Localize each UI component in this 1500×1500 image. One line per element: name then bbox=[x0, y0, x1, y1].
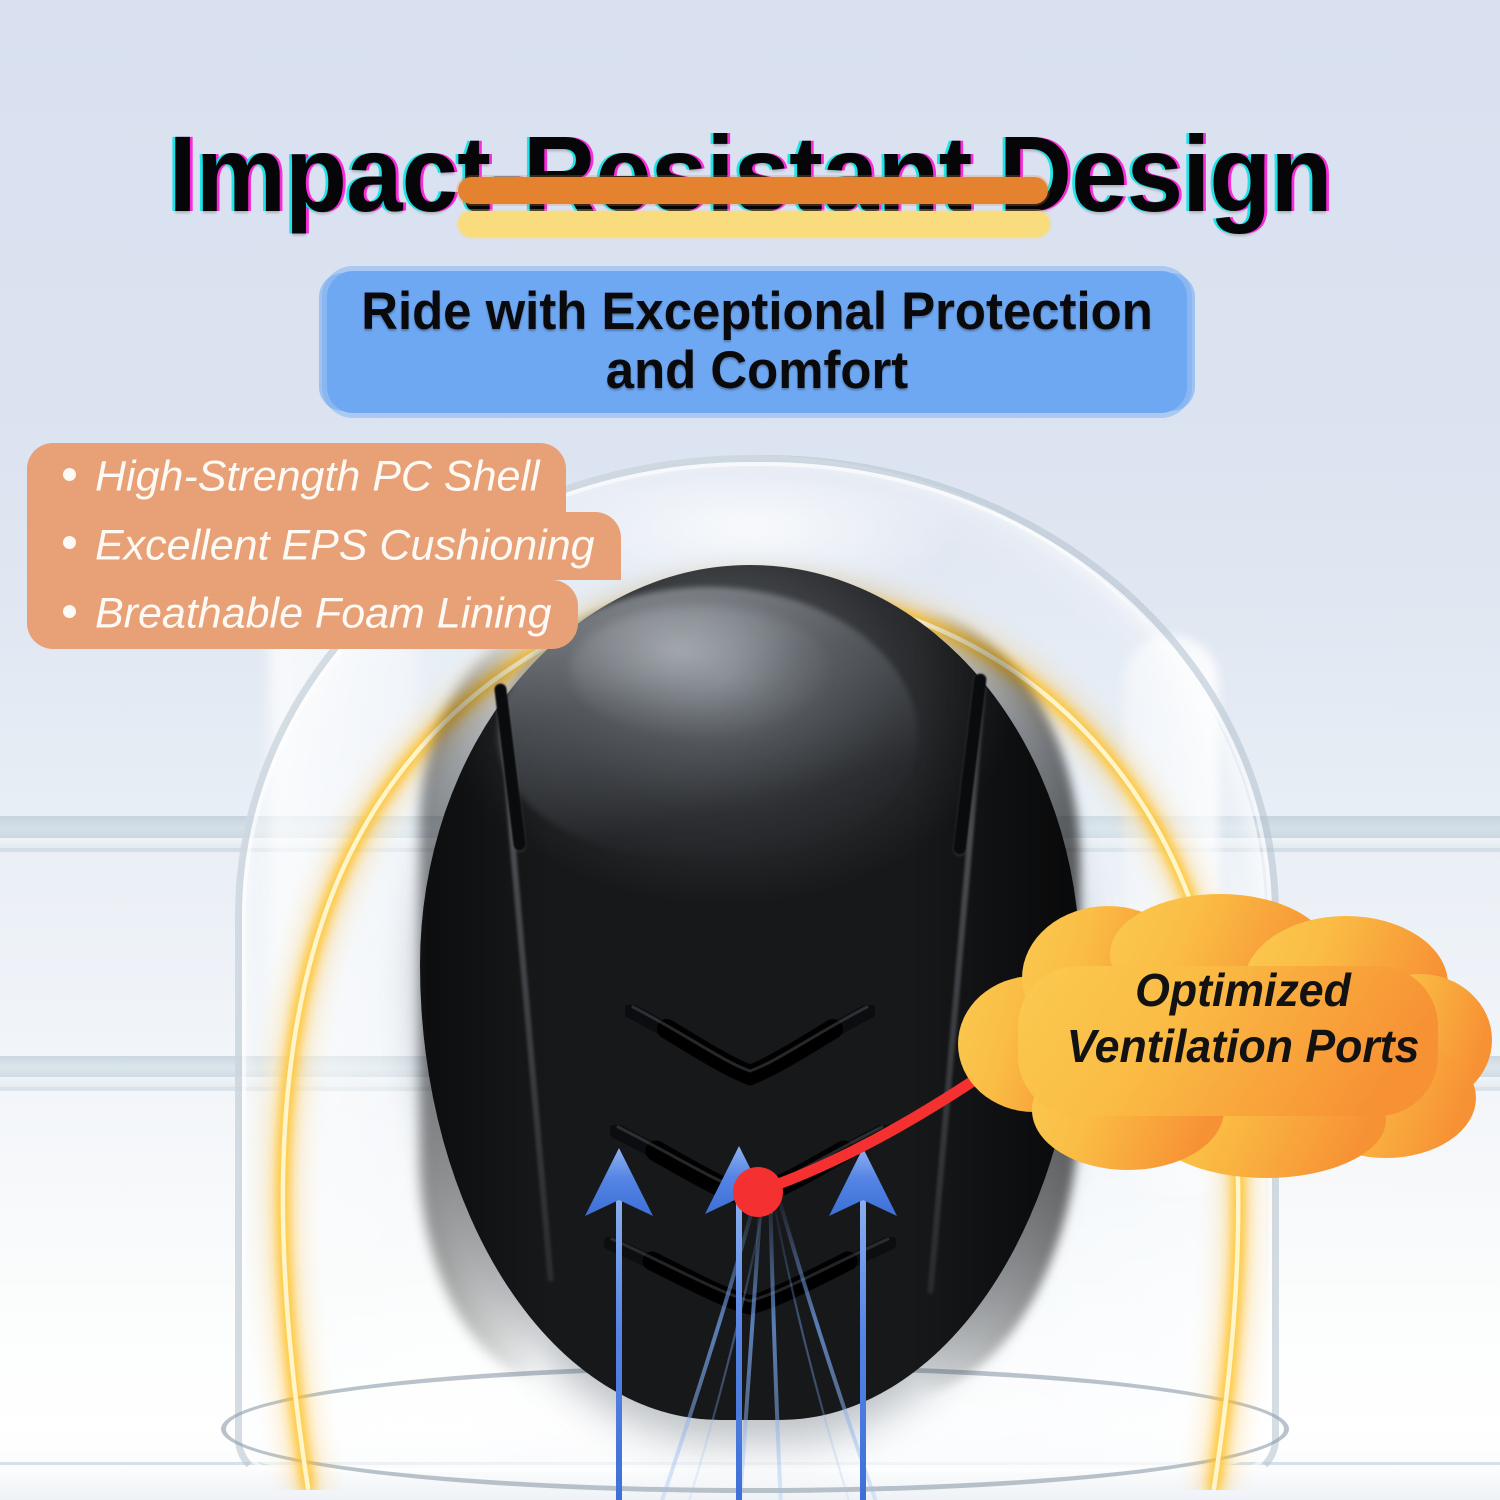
bullet-dot-icon bbox=[63, 536, 76, 549]
subtitle: Ride with Exceptional Protection and Com… bbox=[344, 282, 1170, 401]
callout-text: Optimized Ventilation Ports bbox=[1015, 962, 1471, 1074]
callout-line-1: Optimized bbox=[1135, 964, 1351, 1016]
bullet-dot-icon bbox=[63, 605, 76, 618]
feature-label: Breathable Foam Lining bbox=[95, 590, 552, 638]
helmet-vent-port-2 bbox=[610, 1125, 890, 1213]
list-item: High-Strength PC Shell bbox=[27, 443, 566, 512]
list-item: Excellent EPS Cushioning bbox=[27, 512, 621, 581]
list-item: Breathable Foam Lining bbox=[27, 580, 578, 649]
feature-label: Excellent EPS Cushioning bbox=[95, 521, 595, 569]
helmet-vent-port-3 bbox=[604, 1237, 896, 1321]
product-feature-graphic: Optimized Ventilation Ports Impact-Resis… bbox=[0, 0, 1500, 1500]
helmet-vent-port-1 bbox=[625, 1005, 875, 1091]
helmet-gloss-spot bbox=[570, 605, 830, 735]
callout-line-2: Ventilation Ports bbox=[1015, 1018, 1471, 1074]
subtitle-line-2: and Comfort bbox=[344, 341, 1170, 400]
feature-label: High-Strength PC Shell bbox=[95, 453, 540, 501]
title-rule-yellow bbox=[458, 211, 1050, 237]
title-rule-orange bbox=[458, 177, 1048, 204]
subtitle-line-1: Ride with Exceptional Protection bbox=[361, 282, 1153, 341]
feature-list: High-Strength PC Shell Excellent EPS Cus… bbox=[27, 443, 597, 649]
bullet-dot-icon bbox=[63, 468, 76, 481]
